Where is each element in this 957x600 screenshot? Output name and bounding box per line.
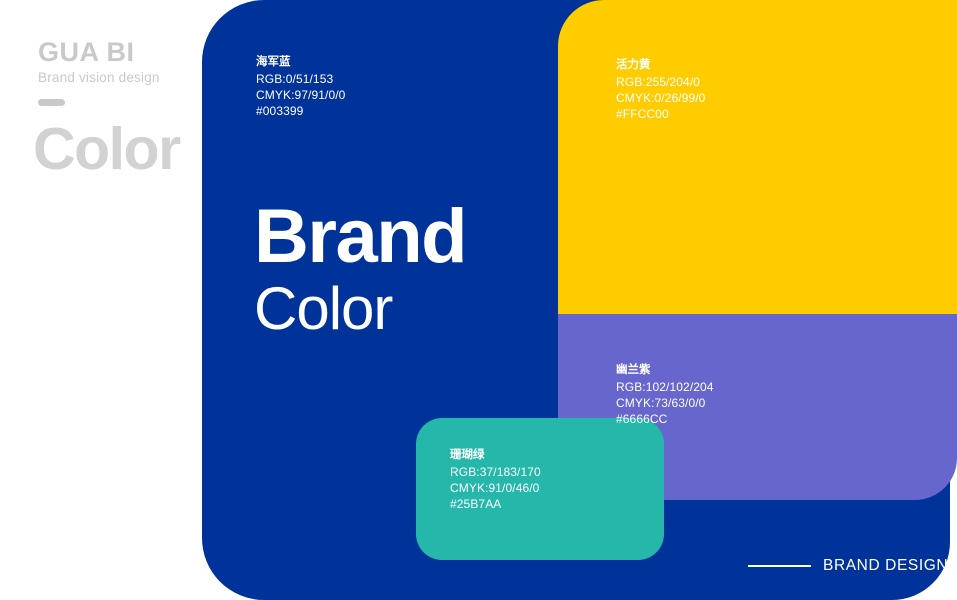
swatch-rgb-green: RGB:37/183/170 bbox=[450, 465, 541, 481]
brand-name: GUA BI bbox=[38, 38, 208, 66]
hero-headline: Brand Color bbox=[254, 200, 466, 338]
swatch-hex-purple: #6666CC bbox=[616, 412, 714, 428]
divider-dash bbox=[38, 99, 65, 106]
swatch-name-yellow: 活力黄 bbox=[616, 58, 705, 73]
swatch-hex-green: #25B7AA bbox=[450, 497, 541, 513]
swatch-rgb-navy: RGB:0/51/153 bbox=[256, 72, 345, 88]
swatch-name-navy: 海军蓝 bbox=[256, 55, 345, 70]
hero-line-color: Color bbox=[254, 280, 466, 338]
hero-line-brand: Brand bbox=[254, 200, 466, 274]
footer-rule-line bbox=[748, 565, 811, 567]
section-watermark-title: Color bbox=[33, 120, 180, 179]
swatch-cmyk-navy: CMYK:97/91/0/0 bbox=[256, 88, 345, 104]
brand-color-poster: GUA BI Brand vision design Color Brand C… bbox=[0, 0, 957, 600]
swatch-cmyk-yellow: CMYK:0/26/99/0 bbox=[616, 91, 705, 107]
brand-logo-block: GUA BI Brand vision design bbox=[38, 38, 208, 106]
swatch-spec-navy: 海军蓝 RGB:0/51/153 CMYK:97/91/0/0 #003399 bbox=[256, 55, 345, 120]
swatch-hex-navy: #003399 bbox=[256, 104, 345, 120]
swatch-cmyk-green: CMYK:91/0/46/0 bbox=[450, 481, 541, 497]
swatch-rgb-purple: RGB:102/102/204 bbox=[616, 380, 714, 396]
footer-label: BRAND DESIGN bbox=[823, 557, 948, 575]
swatch-hex-yellow: #FFCC00 bbox=[616, 107, 705, 123]
swatch-spec-purple: 幽兰紫 RGB:102/102/204 CMYK:73/63/0/0 #6666… bbox=[616, 363, 714, 428]
swatch-rgb-yellow: RGB:255/204/0 bbox=[616, 75, 705, 91]
swatch-spec-green: 珊瑚绿 RGB:37/183/170 CMYK:91/0/46/0 #25B7A… bbox=[450, 448, 541, 513]
swatch-cmyk-purple: CMYK:73/63/0/0 bbox=[616, 396, 714, 412]
swatch-name-green: 珊瑚绿 bbox=[450, 448, 541, 463]
swatch-name-purple: 幽兰紫 bbox=[616, 363, 714, 378]
swatch-spec-yellow: 活力黄 RGB:255/204/0 CMYK:0/26/99/0 #FFCC00 bbox=[616, 58, 705, 123]
brand-tagline: Brand vision design bbox=[38, 71, 208, 86]
footer-brand-design: BRAND DESIGN bbox=[748, 557, 948, 575]
swatch-block-yellow bbox=[558, 0, 957, 314]
